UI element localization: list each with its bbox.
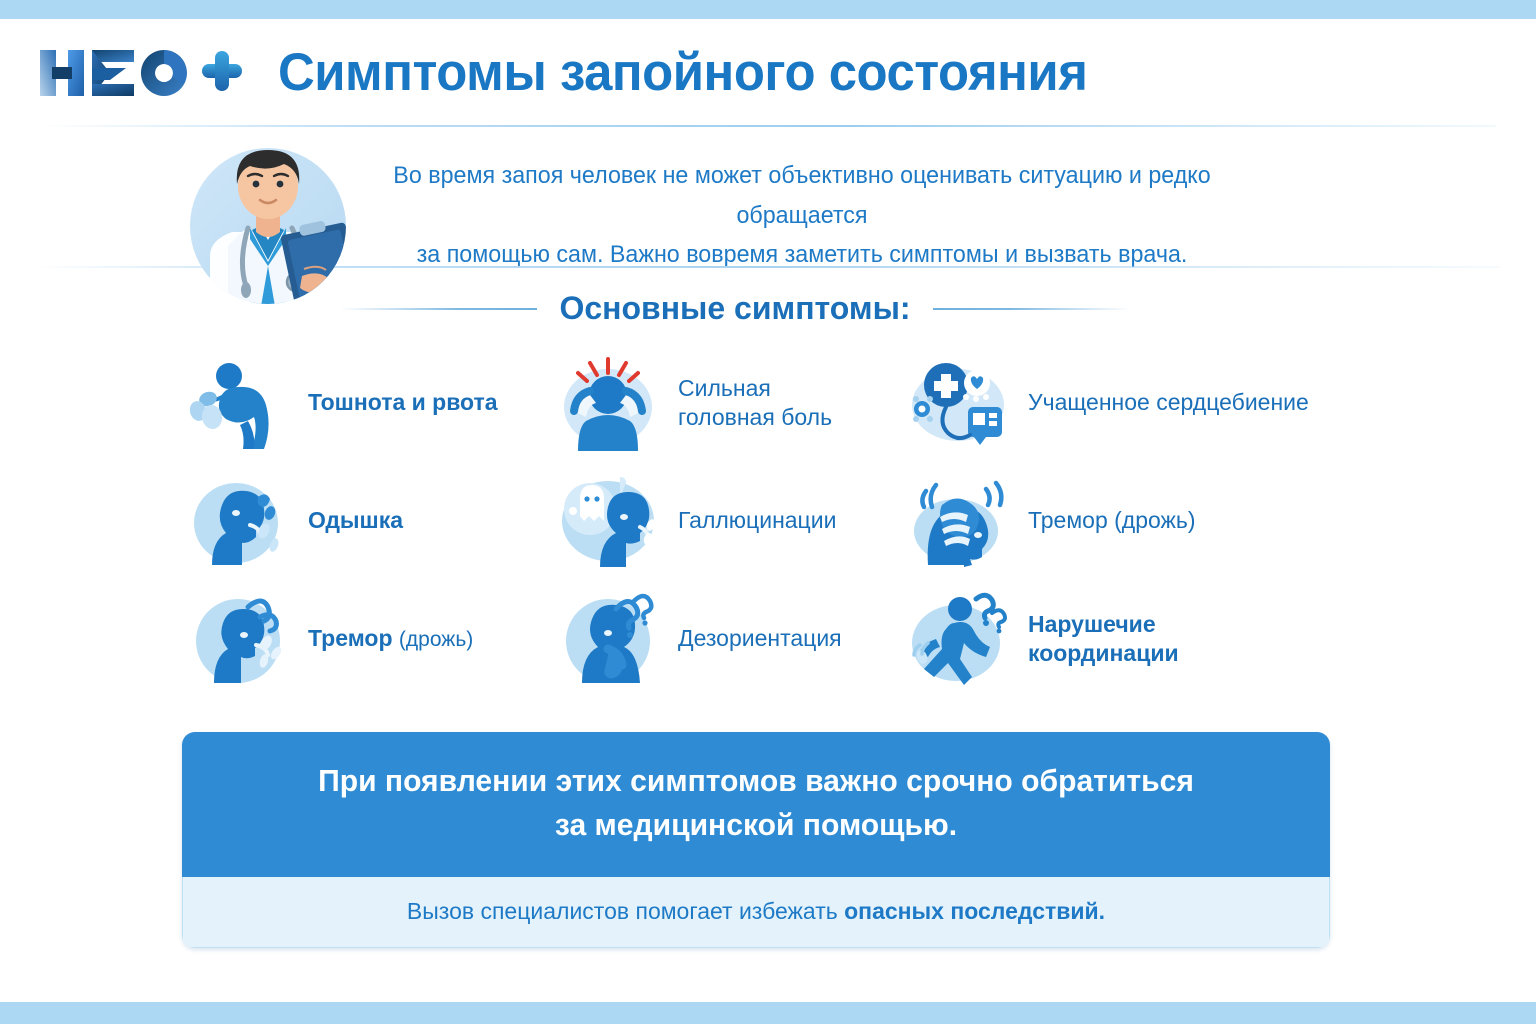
symptom-label-line1: Сильная — [678, 374, 832, 403]
symptom-label: Сильная головная боль — [678, 374, 832, 433]
header: Симптомы запойного состояния — [0, 19, 1536, 126]
breathing-difficulty-icon — [186, 469, 294, 573]
symptom-item-severe-headache: Сильная головная боль — [556, 347, 906, 459]
headache-icon — [556, 351, 664, 455]
heading-rule-right — [933, 308, 1130, 310]
stumbling-person-icon — [906, 587, 1014, 691]
intro-line-1: Во время запоя человек не может объектив… — [346, 156, 1258, 235]
symptom-label-line2: координации — [1028, 639, 1179, 668]
callout-line-2: за медицинской помощью. — [257, 803, 1254, 847]
symptom-item-tremor-head: Тремор (дрожь) — [906, 465, 1366, 577]
symptom-label: Тремор (дрожь) — [1028, 506, 1196, 535]
symptom-label: Нарушечие координации — [1028, 610, 1179, 669]
sweating-tremor-icon — [186, 587, 294, 691]
symptom-label-suffix: (дрожь) — [399, 628, 473, 651]
symptom-label: Одышка — [308, 506, 403, 535]
callout-line-1: При появлении этих симптомов важно срочн… — [257, 759, 1254, 803]
symptoms-grid: Тошнота и рвота — [186, 344, 1366, 698]
heading-rule-left — [340, 308, 537, 310]
symptom-label: Тошнота и рвота — [308, 388, 498, 417]
symptom-item-shortness-of-breath: Одышка — [186, 465, 556, 577]
symptom-label-line1: Галлюцинации — [678, 507, 836, 533]
infographic-page: Симптомы запойного состояния — [0, 0, 1536, 1024]
confused-person-icon — [556, 587, 664, 691]
symptom-label-line2: головная боль — [678, 403, 832, 432]
section-heading: Основные симптомы: — [340, 290, 1130, 327]
callout-footer-text: Вызов специалистов помогает избежать опа… — [223, 898, 1289, 925]
header-divider — [40, 125, 1496, 127]
symptom-label-line1: Тремор (дрожь) — [1028, 507, 1196, 533]
medical-monitor-icon — [906, 351, 1014, 455]
symptom-label-line1: Учащенное сердцебиение — [1028, 389, 1309, 415]
symptom-item-nausea-vomiting: Тошнота и рвота — [186, 347, 556, 459]
callout-footer-prefix: Вызов специалистов помогает избежать — [407, 898, 844, 924]
symptom-item-tremor-sweating: Тремор (дрожь) — [186, 583, 556, 695]
neo-plus-logo — [34, 42, 244, 104]
head-tremor-icon — [906, 469, 1014, 573]
ghost-hallucination-icon — [556, 469, 664, 573]
symptom-item-hallucinations: Галлюцинации — [556, 465, 906, 577]
intro-text: Во время запоя человек не может объектив… — [346, 156, 1258, 275]
symptom-item-rapid-heartbeat: Учащенное сердцебиение — [906, 347, 1366, 459]
symptom-item-coordination-disorder: Нарушечие координации — [906, 583, 1366, 695]
person-vomiting-icon — [186, 351, 294, 455]
symptom-label-line1: Тремор — [308, 625, 399, 651]
callout-footer: Вызов специалистов помогает избежать опа… — [182, 877, 1330, 948]
callout-main: При появлении этих симптомов важно срочн… — [182, 732, 1330, 877]
callout-footer-emphasis: опасных последствий. — [844, 898, 1105, 924]
symptom-label: Дезориентация — [678, 624, 842, 653]
callout-banner: При появлении этих симптомов важно срочн… — [182, 732, 1330, 948]
page-title: Симптомы запойного состояния — [278, 46, 1087, 99]
symptom-label-line1: Тошнота и рвота — [308, 389, 498, 415]
doctor-with-clipboard-illustration — [180, 136, 362, 312]
symptom-label: Учащенное сердцебиение — [1028, 388, 1309, 417]
top-accent-band — [0, 0, 1536, 19]
bottom-accent-band — [0, 1002, 1536, 1024]
symptom-label-line1: Нарушечие — [1028, 610, 1179, 639]
symptom-item-disorientation: Дезориентация — [556, 583, 906, 695]
section-heading-label: Основные симптомы: — [559, 290, 910, 327]
symptom-label-line1: Дезориентация — [678, 625, 842, 651]
symptom-label-line1: Одышка — [308, 507, 403, 533]
intro-section: Во время запоя человек не может объектив… — [0, 136, 1536, 296]
intro-line-2: за помощью сам. Важно вовремя заметить с… — [346, 235, 1258, 275]
symptom-label: Тремор (дрожь) — [308, 624, 473, 654]
symptom-label: Галлюцинации — [678, 506, 836, 535]
